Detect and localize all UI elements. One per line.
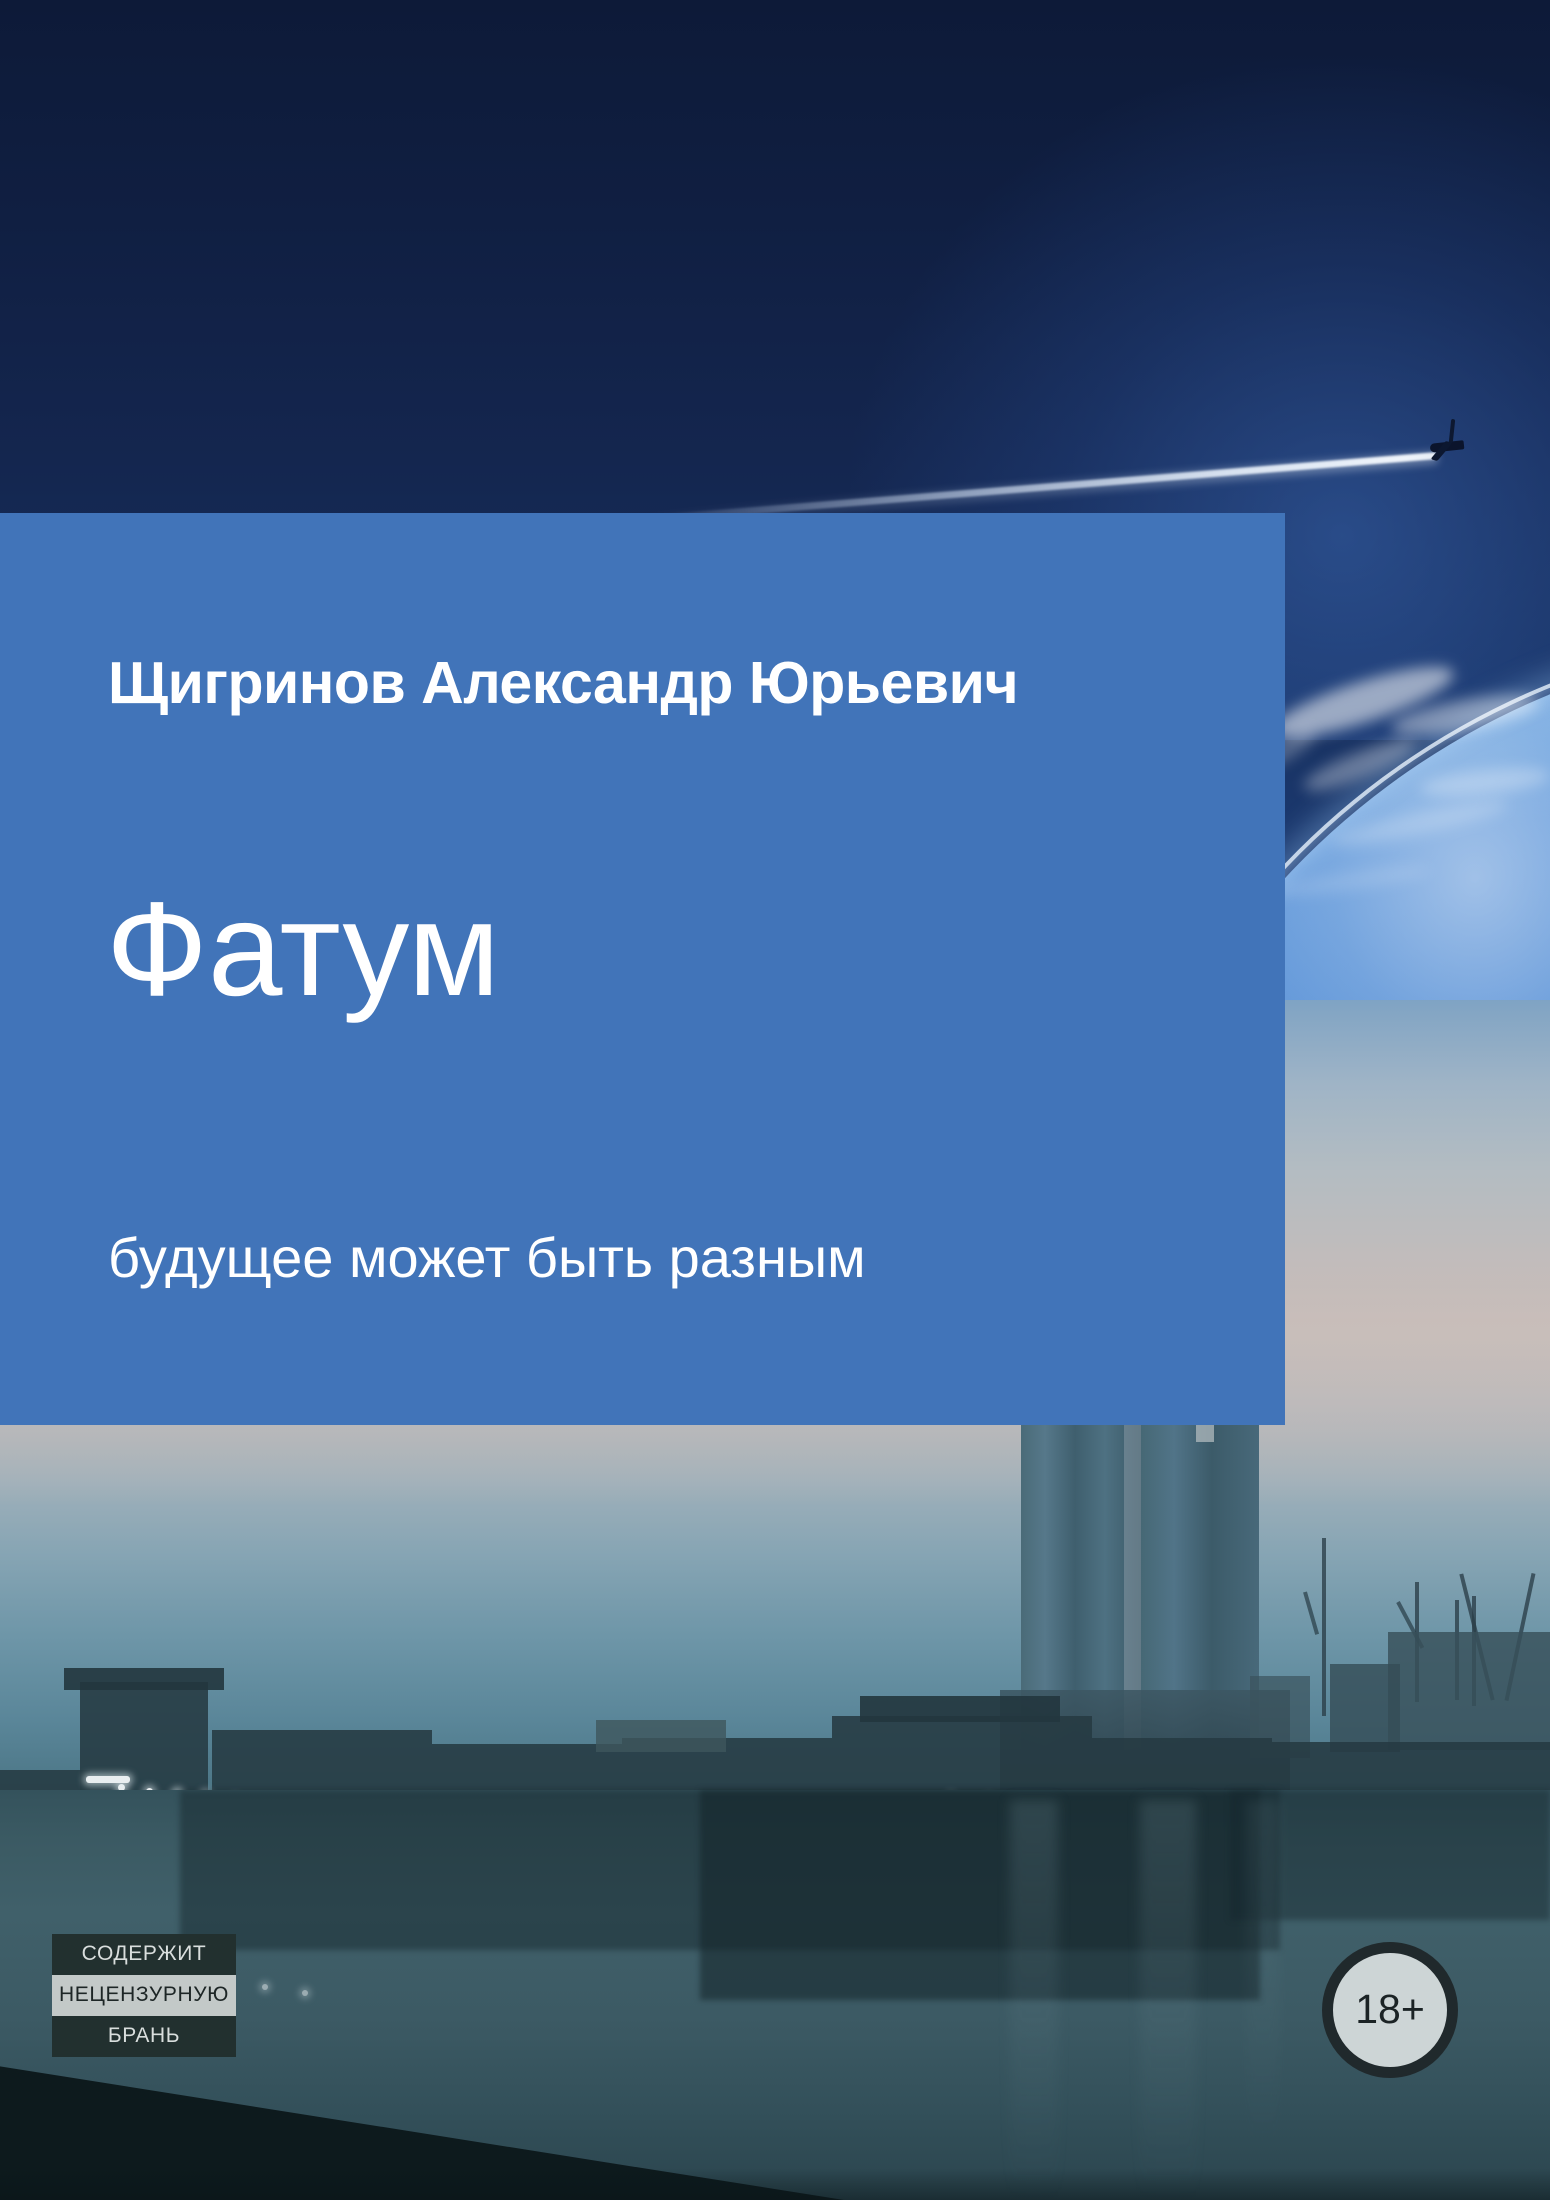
- lamp-reflection: [302, 1990, 308, 1996]
- tower-reflection-streak: [1140, 1800, 1196, 2200]
- age-rating-badge: 18+: [1322, 1942, 1458, 2078]
- content-warning-line-1: СОДЕРЖИТ: [52, 1934, 236, 1975]
- book-cover: Щигринов Александр Юрьевич Фатум будущее…: [0, 0, 1550, 2200]
- title-panel: Щигринов Александр Юрьевич Фатум будущее…: [0, 513, 1285, 1425]
- book-subtitle: будущее может быть разным: [108, 1225, 866, 1290]
- lamp-streak: [86, 1776, 130, 1783]
- content-warning-badge: СОДЕРЖИТ НЕЦЕНЗУРНУЮ БРАНЬ: [52, 1934, 236, 2057]
- content-warning-line-3: БРАНЬ: [52, 2016, 236, 2057]
- author-name: Щигринов Александр Юрьевич: [108, 649, 1018, 717]
- tower-reflection-streak: [1246, 1800, 1280, 2160]
- building-top: [596, 1720, 726, 1752]
- tower-reflection-streak: [1010, 1800, 1058, 2200]
- building-roof: [860, 1696, 1060, 1722]
- foreground-shadow: [0, 2168, 1550, 2200]
- book-title: Фатум: [106, 883, 500, 1017]
- building-roof: [64, 1668, 224, 1690]
- age-rating-label: 18+: [1355, 1989, 1425, 2032]
- content-warning-line-2: НЕЦЕНЗУРНУЮ: [52, 1975, 236, 2016]
- lamp-reflection: [262, 1984, 268, 1990]
